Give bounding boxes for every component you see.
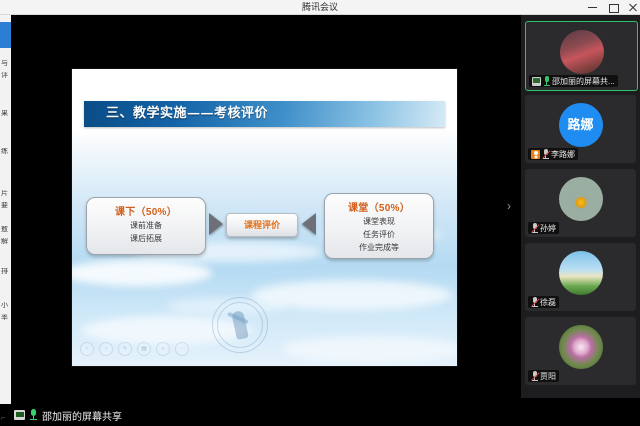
avatar-image [560, 30, 604, 74]
minimize-button[interactable] [587, 2, 598, 13]
background-text-fragment: 敖 [1, 226, 10, 233]
avatar [559, 177, 603, 221]
participant-name: 李路娜 [551, 149, 575, 160]
participant-name: 邵加丽的屏幕共... [552, 76, 615, 87]
participant-name-bar: 邵加丽的屏幕共... [529, 75, 618, 87]
next-icon[interactable]: › [99, 342, 113, 356]
background-text-fragment: 小 [1, 302, 10, 309]
diagram-box-heading: 课堂（50%） [325, 199, 433, 214]
title-bar: 腾讯会议 [0, 0, 640, 15]
microphone-icon [543, 76, 550, 86]
window-title: 腾讯会议 [0, 0, 640, 14]
cloud-decoration [282, 336, 457, 362]
host-icon [531, 150, 540, 159]
background-text-fragment: 练 [1, 148, 10, 155]
diagram-box-line: 课堂表现 [325, 216, 433, 227]
arrow-right-icon [209, 213, 223, 235]
background-text-fragment: 要 [1, 202, 10, 209]
slide-title-banner: 三、教学实施——考核评价 [84, 101, 445, 127]
maximize-button[interactable] [607, 2, 618, 13]
slides-icon[interactable]: ▦ [137, 342, 151, 356]
more-glyph: ⋯ [176, 343, 188, 355]
status-bar: ⌐ 邵加丽的屏幕共享 [0, 404, 640, 426]
background-text-fragment: 解 [1, 238, 10, 245]
diagram-box-inclass: 课堂（50%） 课堂表现 任务评价 作业完成等 [324, 193, 434, 259]
participant-name: 贾阳 [540, 371, 556, 382]
background-window-accent [0, 22, 11, 48]
participant-name: 徐磊 [540, 297, 556, 308]
avatar: 路娜 [559, 103, 603, 147]
shared-screen-area[interactable]: 三、教学实施——考核评价 课下（50%） 课前准备 课后拓展 课程评价 课堂（5… [11, 15, 518, 398]
diagram-box-line: 作业完成等 [325, 242, 433, 253]
microphone-muted-icon [531, 371, 538, 381]
avatar-image [559, 177, 603, 221]
participant-name-bar: 孙婷 [528, 222, 559, 234]
avatar-image [559, 251, 603, 295]
microphone-muted-icon [542, 149, 549, 159]
school-emblem-watermark [212, 297, 268, 353]
diagram-box-line: 课前准备 [87, 220, 205, 231]
zoom-glyph: ⌕ [157, 343, 169, 355]
collapse-panel-arrow-icon[interactable]: › [503, 198, 515, 214]
presentation-toolbar[interactable]: ‹ › ✎ ▦ ⌕ ⋯ [80, 342, 189, 356]
participant-name-bar: 贾阳 [528, 370, 559, 382]
participant-name-bar: 李路娜 [528, 148, 578, 160]
diagram-box-offclass: 课下（50%） 课前准备 课后拓展 [86, 197, 206, 255]
window-controls [587, 0, 638, 14]
arrow-left-icon [302, 213, 316, 235]
participant-name-bar: 徐磊 [528, 296, 559, 308]
participant-name: 孙婷 [540, 223, 556, 234]
corner-glyph-icon: ⌐ [1, 415, 5, 422]
slides-glyph: ▦ [138, 343, 150, 355]
avatar-image [559, 325, 603, 369]
pen-icon[interactable]: ✎ [118, 342, 132, 356]
diagram-center-box: 课程评价 [226, 213, 298, 237]
microphone-muted-icon [531, 297, 538, 307]
background-text-fragment: 排 [1, 268, 10, 275]
background-text-fragment: 率 [1, 314, 10, 321]
cloud-decoration [72, 260, 212, 286]
diagram-box-line: 课后拓展 [87, 233, 205, 244]
avatar [560, 30, 604, 74]
background-text-fragment: 果 [1, 110, 10, 117]
zoom-icon[interactable]: ⌕ [156, 342, 170, 356]
avatar [559, 251, 603, 295]
participant-rail[interactable]: 邵加丽的屏幕共... 路娜 李路娜 孙婷 [521, 15, 640, 398]
microphone-muted-icon [531, 223, 538, 233]
participant-tile[interactable]: 贾阳 [525, 317, 636, 385]
background-text-fragment: 与 [1, 60, 10, 67]
participant-tile-host[interactable]: 路娜 李路娜 [525, 95, 636, 163]
background-text-fragment: 片 [1, 190, 10, 197]
presentation-slide: 三、教学实施——考核评价 课下（50%） 课前准备 课后拓展 课程评价 课堂（5… [72, 69, 457, 366]
diagram-box-heading: 课下（50%） [87, 203, 205, 218]
participant-tile-sharer[interactable]: 邵加丽的屏幕共... [525, 21, 638, 91]
prev-glyph: ‹ [81, 343, 93, 355]
background-window-sliver[interactable]: 与 评 果 练 片 要 敖 解 排 小 率 [0, 14, 11, 426]
avatar [559, 325, 603, 369]
meeting-body: 三、教学实施——考核评价 课下（50%） 课前准备 课后拓展 课程评价 课堂（5… [11, 15, 640, 426]
slide-title: 三、教学实施——考核评价 [106, 101, 268, 127]
pen-glyph: ✎ [119, 343, 131, 355]
microphone-icon [29, 409, 38, 421]
screen-share-icon [532, 77, 541, 86]
diagram-box-line: 任务评价 [325, 229, 433, 240]
close-button[interactable] [627, 2, 638, 13]
tencent-meeting-window: 与 评 果 练 片 要 敖 解 排 小 率 腾讯会议 [0, 0, 640, 426]
background-text-fragment: 评 [1, 72, 10, 79]
participant-tile[interactable]: 徐磊 [525, 243, 636, 311]
status-bar-content: 邵加丽的屏幕共享 [14, 404, 122, 426]
prev-icon[interactable]: ‹ [80, 342, 94, 356]
status-bar-label: 邵加丽的屏幕共享 [42, 408, 122, 423]
screen-share-icon [14, 410, 25, 420]
participant-tile[interactable]: 孙婷 [525, 169, 636, 237]
more-icon[interactable]: ⋯ [175, 342, 189, 356]
next-glyph: › [100, 343, 112, 355]
